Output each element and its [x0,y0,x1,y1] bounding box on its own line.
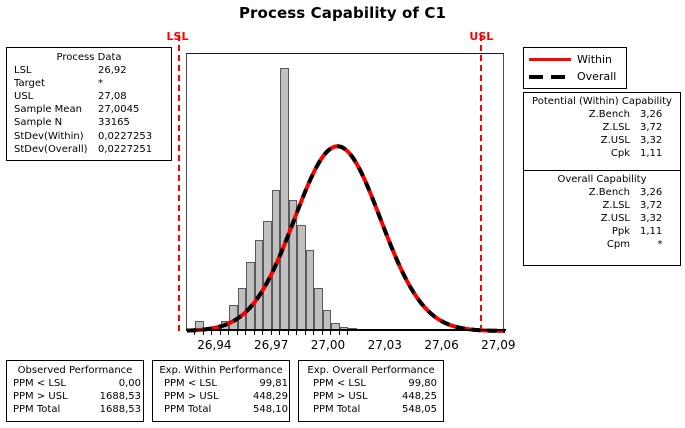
histogram-bar [289,200,298,330]
process-data-title: Process Data [7,50,171,64]
row-value: 1,11 [640,225,685,238]
x-axis-tick-label: 27,00 [302,338,354,352]
x-axis-minor-tick [203,330,204,335]
row-label: Z.Bench [524,186,640,199]
row-label: Target [14,77,98,90]
histogram-bar [272,190,281,330]
table-row: Ppk 1,11 [524,225,680,238]
histogram-bar [255,240,264,330]
row-label: Sample Mean [14,103,98,116]
plot-inner [187,54,503,330]
row-value: * [98,77,164,90]
table-row: PPM > USL 448,29 [153,390,289,403]
x-axis-minor-tick [296,330,297,335]
row-value: 548,10 [236,403,288,416]
row-value: 448,29 [236,390,288,403]
row-value: * [640,238,680,251]
row-label: Z.LSL [524,121,640,134]
row-value: 0,00 [85,377,141,390]
table-row: Target * [7,77,171,90]
table-row: StDev(Overall) 0,0227251 [7,143,171,156]
x-axis-minor-tick [339,330,340,335]
table-row: Z.Bench 3,26 [524,186,680,199]
spec-limit-label-usl: USL [469,30,493,43]
table-row: PPM < LSL 99,81 [153,377,289,390]
histogram-bar [323,310,332,330]
row-value: 26,92 [98,64,164,77]
histogram-bar [246,262,255,330]
row-label: Cpk [524,147,640,160]
row-label: Cpm [524,238,640,251]
row-label: Sample N [14,116,98,129]
x-axis-minor-tick [279,330,280,335]
x-axis-minor-tick [305,330,306,335]
row-value: 1688,53 [85,390,141,403]
table-row: PPM > USL 1688,53 [7,390,143,403]
x-axis-minor-tick [254,330,255,335]
overall-curve [187,146,505,331]
legend-label: Within [577,53,612,66]
legend-solid-line-icon [529,54,571,66]
table-row: Sample Mean 27,0045 [7,103,171,116]
table-row: Z.USL 3,32 [524,134,680,147]
row-label: PPM > USL [313,390,385,403]
row-label: Ppk [524,225,640,238]
row-label: PPM Total [313,403,385,416]
expected-within-title: Exp. Within Performance [153,363,289,377]
expected-overall-performance-table: Exp. Overall Performance PPM < LSL 99,80… [298,360,444,422]
row-label: Z.USL [524,212,640,225]
histogram-plot-area [186,53,504,330]
page-title: Process Capability of C1 [0,4,685,22]
table-row: LSL 26,92 [7,64,171,77]
histogram-bar [297,225,306,330]
row-label: PPM < LSL [164,377,236,390]
row-label: Z.USL [524,134,640,147]
table-row: Z.LSL 3,72 [524,199,680,212]
histogram-bar [306,250,315,330]
histogram-bar [314,288,323,330]
row-value: 548,05 [385,403,437,416]
x-axis-minor-tick [228,330,229,335]
observed-performance-title: Observed Performance [7,363,143,377]
row-value: 3,26 [640,108,685,121]
row-label: PPM Total [13,403,85,416]
row-label: StDev(Within) [14,130,98,143]
row-label: PPM > USL [164,390,236,403]
x-axis-minor-tick [220,330,221,335]
x-axis-minor-tick [245,330,246,335]
row-value: 0,0227253 [98,130,164,143]
row-label: Z.Bench [524,108,640,121]
x-axis-line [186,329,506,331]
expected-within-performance-table: Exp. Within Performance PPM < LSL 99,81 … [152,360,290,422]
row-label: PPM < LSL [313,377,385,390]
observed-performance-table: Observed Performance PPM < LSL 0,00 PPM … [6,360,144,422]
row-value: 27,08 [98,90,164,103]
legend-item-within: Within [524,51,626,68]
process-data-table: Process Data LSL 26,92 Target * USL 27,0… [6,47,172,161]
x-axis-tick-label: 27,06 [416,338,468,352]
x-axis-tick-label: 26,97 [245,338,297,352]
row-value: 33165 [98,116,164,129]
histogram-bar [280,68,289,330]
legend-dashed-line-icon [529,71,571,83]
table-row: Z.USL 3,32 [524,212,680,225]
table-row: StDev(Within) 0,0227253 [7,130,171,143]
overall-capability-table: Overall Capability Z.Bench 3,26 Z.LSL 3,… [523,170,681,266]
row-label: Z.LSL [524,199,640,212]
row-value: 3,72 [640,199,685,212]
expected-overall-title: Exp. Overall Performance [299,363,443,377]
table-row: PPM Total 548,10 [153,403,289,416]
table-row: PPM Total 548,05 [299,403,443,416]
table-row: PPM < LSL 0,00 [7,377,143,390]
table-row: PPM Total 1688,53 [7,403,143,416]
row-label: PPM < LSL [13,377,85,390]
x-axis-minor-tick [313,330,314,335]
legend-label: Overall [577,70,616,83]
x-axis-minor-tick [262,330,263,335]
chart-legend: Within Overall [523,47,627,89]
x-axis-tick-label: 26,94 [188,338,240,352]
row-value: 3,72 [640,121,685,134]
row-value: 99,80 [385,377,437,390]
row-value: 0,0227251 [98,143,164,156]
spec-limit-line-lsl [178,35,180,331]
row-value: 448,25 [385,390,437,403]
table-row: Z.Bench 3,26 [524,108,680,121]
x-axis-tick-label: 27,09 [472,338,524,352]
table-row: Z.LSL 3,72 [524,121,680,134]
x-axis-minor-tick [322,330,323,335]
x-axis-minor-tick [347,330,348,335]
x-axis-minor-tick [211,330,212,335]
row-label: StDev(Overall) [14,143,98,156]
row-label: PPM Total [164,403,236,416]
x-axis-minor-tick [330,330,331,335]
distribution-curves [187,54,505,331]
table-row: Cpk 1,11 [524,147,680,160]
histogram-bar [229,305,238,330]
row-value: 3,32 [640,134,685,147]
x-axis-tick-label: 27,03 [359,338,411,352]
table-row: Cpm * [524,238,680,251]
row-value: 27,0045 [98,103,164,116]
x-axis-minor-tick [237,330,238,335]
histogram-bar [238,288,247,330]
table-row: Sample N 33165 [7,116,171,129]
x-axis-minor-tick [194,330,195,335]
row-label: USL [14,90,98,103]
potential-within-capability-table: Potential (Within) Capability Z.Bench 3,… [523,92,681,171]
spec-limit-line-usl [480,35,482,331]
row-value: 3,32 [640,212,685,225]
within-curve [187,146,505,331]
x-axis-minor-tick [288,330,289,335]
spec-limit-label-lsl: LSL [167,30,189,43]
row-value: 99,81 [236,377,288,390]
row-value: 1688,53 [85,403,141,416]
overall-capability-title: Overall Capability [524,172,680,186]
row-value: 3,26 [640,186,685,199]
legend-item-overall: Overall [524,68,626,85]
within-capability-title: Potential (Within) Capability [524,94,680,108]
x-axis-minor-tick [271,330,272,335]
table-row: USL 27,08 [7,90,171,103]
row-label: PPM > USL [13,390,85,403]
table-row: PPM < LSL 99,80 [299,377,443,390]
row-value: 1,11 [640,147,685,160]
histogram-bar [263,221,272,330]
row-label: LSL [14,64,98,77]
table-row: PPM > USL 448,25 [299,390,443,403]
